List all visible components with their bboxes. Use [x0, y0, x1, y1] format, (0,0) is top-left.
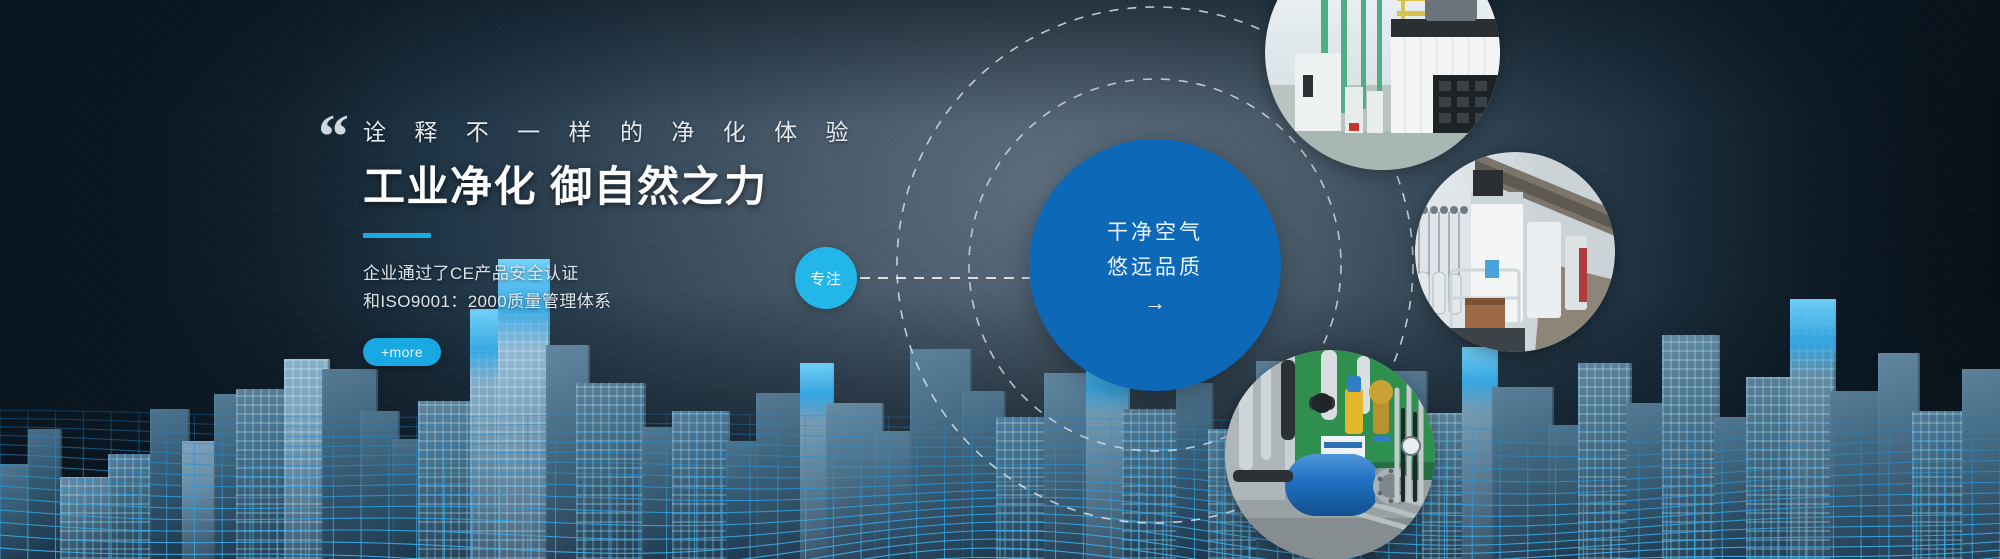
concept-diagram: 专注 干净空气 悠远品质 → [760, 0, 1520, 559]
textile-machinery-photo[interactable] [1415, 152, 1615, 352]
more-button[interactable]: +more [363, 338, 441, 366]
hero-banner: “ 诠 释 不 一 样 的 净 化 体 验 工业净化 御自然之力 企业通过了CE… [0, 0, 2000, 559]
focus-badge-label: 专注 [810, 268, 842, 289]
focus-badge[interactable]: 专注 [795, 247, 857, 309]
pipe-valve-equipment-photo[interactable] [1225, 350, 1435, 559]
slogan-line-1: 干净空气 [1107, 216, 1203, 251]
quote-mark-icon: “ [318, 106, 347, 168]
slogan-line-2: 悠远品质 [1107, 251, 1203, 286]
accent-divider [363, 233, 431, 238]
pipe-valve-equipment-photo-art [1225, 350, 1435, 559]
arrow-right-icon: → [1144, 292, 1166, 314]
textile-machinery-photo-art [1415, 152, 1615, 352]
main-slogan-circle[interactable]: 干净空气 悠远品质 → [1029, 139, 1281, 391]
